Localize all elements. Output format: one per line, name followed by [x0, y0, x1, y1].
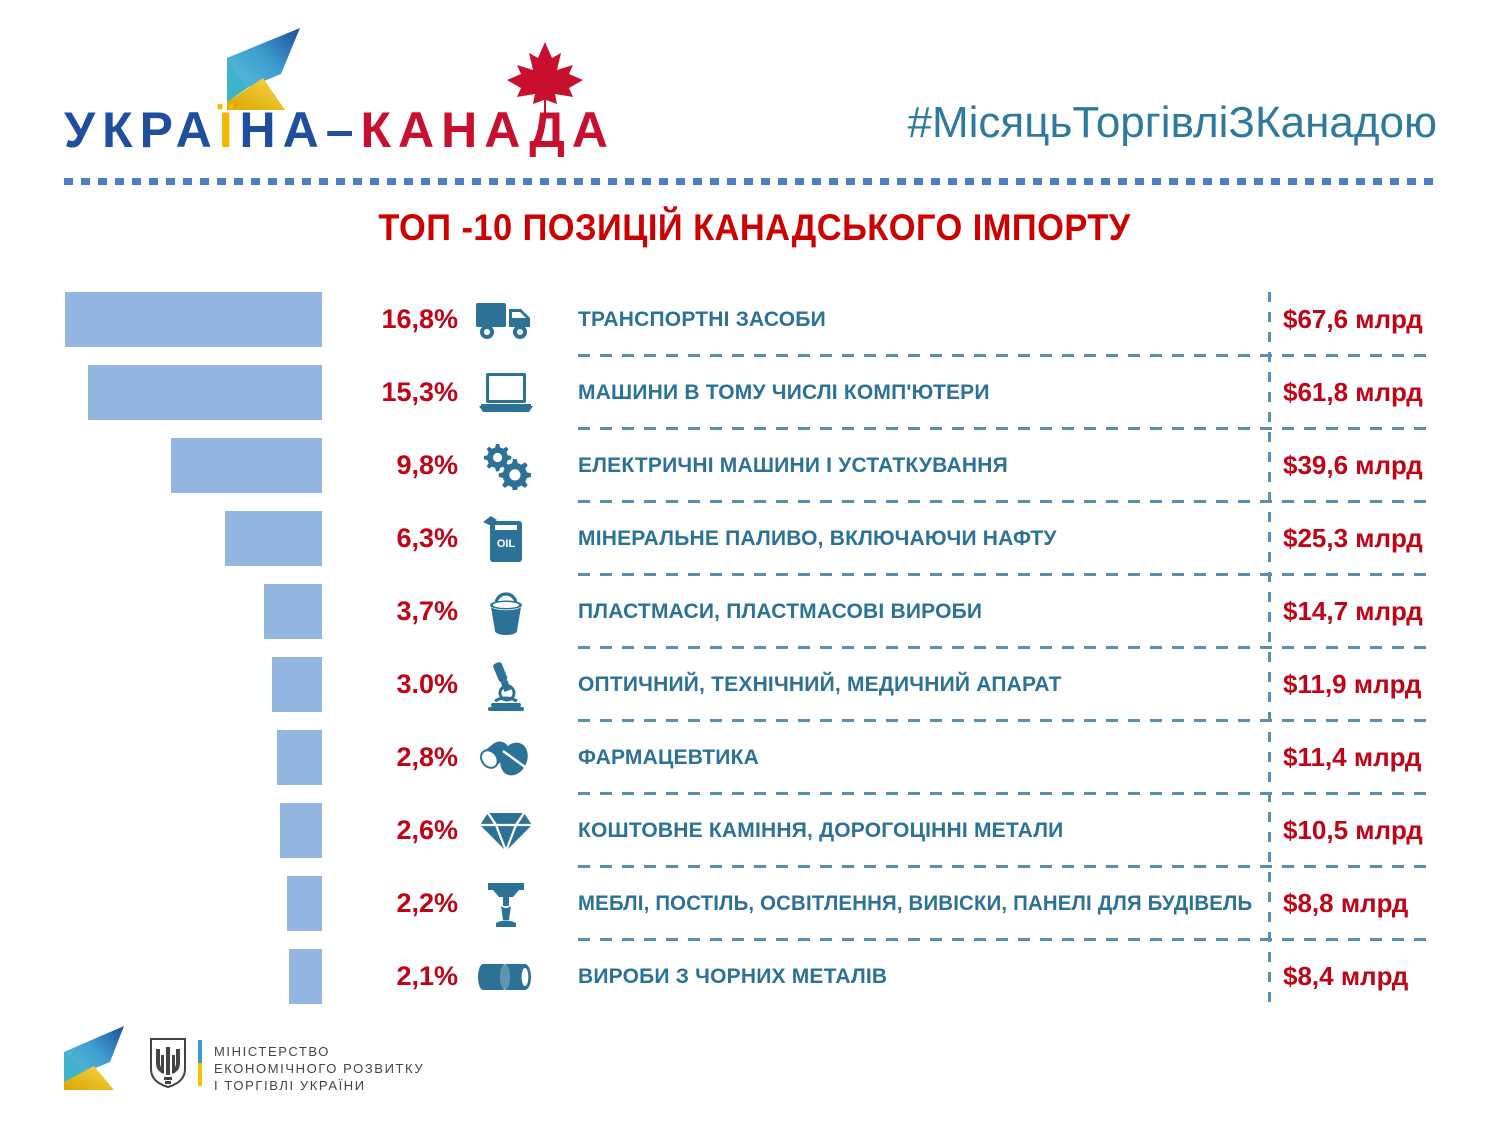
chart-row: 3.0%ОПТИЧНИЙ, ТЕХНІЧНИЙ, МЕДИЧНИЙ АПАРАТ… [0, 648, 1509, 721]
page-title: ТОП -10 ПОЗИЦІЙ КАНАДСЬКОГО ІМПОРТУ [53, 207, 1456, 249]
laptop-icon [466, 356, 546, 429]
chart-row: 2,8%ФАРМАЦЕВТИКА$11,4 млрд [0, 721, 1509, 794]
bar-track [0, 940, 322, 1013]
wordmark-ukraine-yi: Ї [219, 102, 240, 158]
percent-value: 6,3% [340, 502, 458, 575]
category-label: ПЛАСТМАСИ, ПЛАСТМАСОВІ ВИРОБИ [578, 575, 982, 648]
category-label: КОШТОВНЕ КАМІННЯ, ДОРОГОЦІННІ МЕТАЛИ [578, 794, 1063, 867]
chart-row: 9,8%ЕЛЕКТРИЧНІ МАШИНИ І УСТАТКУВАННЯ$39,… [0, 429, 1509, 502]
bar-track [0, 794, 322, 867]
percent-value: 16,8% [340, 283, 458, 356]
chart-row: 2,2%МЕБЛІ, ПОСТІЛЬ, ОСВІТЛЕННЯ, ВИВІСКИ,… [0, 867, 1509, 940]
ministry-line-3: І ТОРГІВЛІ УКРАЇНИ [214, 1077, 424, 1094]
truck-icon [466, 283, 546, 356]
percent-value: 15,3% [340, 356, 458, 429]
oil-canister-icon: OIL [466, 502, 546, 575]
percent-value: 3.0% [340, 648, 458, 721]
bar [88, 365, 322, 420]
amount-value: $10,5 млрд [1283, 794, 1423, 867]
microscope-icon [466, 648, 546, 721]
ministry-line-1: МІНІСТЕРСТВО [214, 1043, 424, 1060]
percent-value: 2,2% [340, 867, 458, 940]
bar-track [0, 429, 322, 502]
bar-track [0, 356, 322, 429]
chart-row: 3,7%ПЛАСТМАСИ, ПЛАСТМАСОВІ ВИРОБИ$14,7 м… [0, 575, 1509, 648]
category-label: ТРАНСПОРТНІ ЗАСОБИ [578, 283, 826, 356]
bar [65, 292, 322, 347]
category-label: МЕБЛІ, ПОСТІЛЬ, ОСВІТЛЕННЯ, ВИВІСКИ, ПАН… [578, 867, 1252, 940]
percent-value: 9,8% [340, 429, 458, 502]
amount-value: $25,3 млрд [1283, 502, 1423, 575]
amount-value: $67,6 млрд [1283, 283, 1423, 356]
chart-row: 15,3%МАШИНИ В ТОМУ ЧИСЛІ КОМП'ЮТЕРИ$61,8… [0, 356, 1509, 429]
bar [287, 876, 322, 931]
category-label: ОПТИЧНИЙ, ТЕХНІЧНИЙ, МЕДИЧНИЙ АПАРАТ [578, 648, 1062, 721]
ministry-line-2: ЕКОНОМІЧНОГО РОЗВИТКУ [214, 1060, 424, 1077]
amount-value: $61,8 млрд [1283, 356, 1423, 429]
bar-chart: 16,8%ТРАНСПОРТНІ ЗАСОБИ$67,6 млрд15,3%МА… [0, 283, 1509, 1013]
chart-row: 2,6%КОШТОВНЕ КАМІННЯ, ДОРОГОЦІННІ МЕТАЛИ… [0, 794, 1509, 867]
hashtag: #МісяцьТоргівліЗКанадою [908, 98, 1437, 148]
amount-value: $8,4 млрд [1283, 940, 1408, 1013]
wordmark-ukraine-part2: НА [239, 102, 325, 158]
metal-rolls-icon [466, 940, 546, 1013]
infographic-page: УКРАЇНА–КАНАДА #МісяцьТоргівліЗКанадою Т… [0, 0, 1509, 1131]
bar [272, 657, 322, 712]
bar [171, 438, 322, 493]
category-label: ФАРМАЦЕВТИКА [578, 721, 759, 794]
ukraine-trident-coat-of-arms-icon [148, 1037, 188, 1089]
category-label: МІНЕРАЛЬНЕ ПАЛИВО, ВКЛЮЧАЮЧИ НАФТУ [578, 502, 1057, 575]
value-column-divider [1268, 292, 1271, 1010]
bar [280, 803, 322, 858]
diamond-icon [466, 794, 546, 867]
bar-track [0, 648, 322, 721]
bucket-icon [466, 575, 546, 648]
percent-value: 2,6% [340, 794, 458, 867]
chart-row: 2,1%ВИРОБИ З ЧОРНИХ МЕТАЛІВ$8,4 млрд [0, 940, 1509, 1013]
gears-icon [466, 429, 546, 502]
footer-separator [198, 1040, 202, 1086]
bar-track [0, 867, 322, 940]
amount-value: $11,9 млрд [1283, 648, 1421, 721]
bar-track [0, 721, 322, 794]
maple-leaf-icon [505, 38, 585, 120]
amount-value: $11,4 млрд [1283, 721, 1421, 794]
category-label: ЕЛЕКТРИЧНІ МАШИНИ І УСТАТКУВАННЯ [578, 429, 1008, 502]
bar-track [0, 575, 322, 648]
bar [277, 730, 322, 785]
header: УКРАЇНА–КАНАДА #МісяцьТоргівліЗКанадою [0, 0, 1509, 196]
bar [264, 584, 322, 639]
category-label: ВИРОБИ З ЧОРНИХ МЕТАЛІВ [578, 940, 887, 1013]
category-label: МАШИНИ В ТОМУ ЧИСЛІ КОМП'ЮТЕРИ [578, 356, 990, 429]
amount-value: $39,6 млрд [1283, 429, 1423, 502]
chart-row: 6,3%OILМІНЕРАЛЬНЕ ПАЛИВО, ВКЛЮЧАЮЧИ НАФТ… [0, 502, 1509, 575]
ukraine-flag-ribbon-icon [62, 1026, 140, 1092]
percent-value: 2,8% [340, 721, 458, 794]
percent-value: 2,1% [340, 940, 458, 1013]
bar-track [0, 502, 322, 575]
lamp-icon [466, 867, 546, 940]
percent-value: 3,7% [340, 575, 458, 648]
chart-row: 16,8%ТРАНСПОРТНІ ЗАСОБИ$67,6 млрд [0, 283, 1509, 356]
header-divider [64, 178, 1439, 185]
amount-value: $14,7 млрд [1283, 575, 1423, 648]
svg-text:OIL: OIL [497, 538, 516, 550]
bar [289, 949, 322, 1004]
pills-icon [466, 721, 546, 794]
wordmark-dash: – [326, 102, 361, 158]
wordmark-ukraine-part1: УКРА [64, 102, 219, 158]
ministry-name: МІНІСТЕРСТВО ЕКОНОМІЧНОГО РОЗВИТКУ І ТОР… [214, 1043, 424, 1094]
bar [225, 511, 322, 566]
amount-value: $8,8 млрд [1283, 867, 1408, 940]
bar-track [0, 283, 322, 356]
